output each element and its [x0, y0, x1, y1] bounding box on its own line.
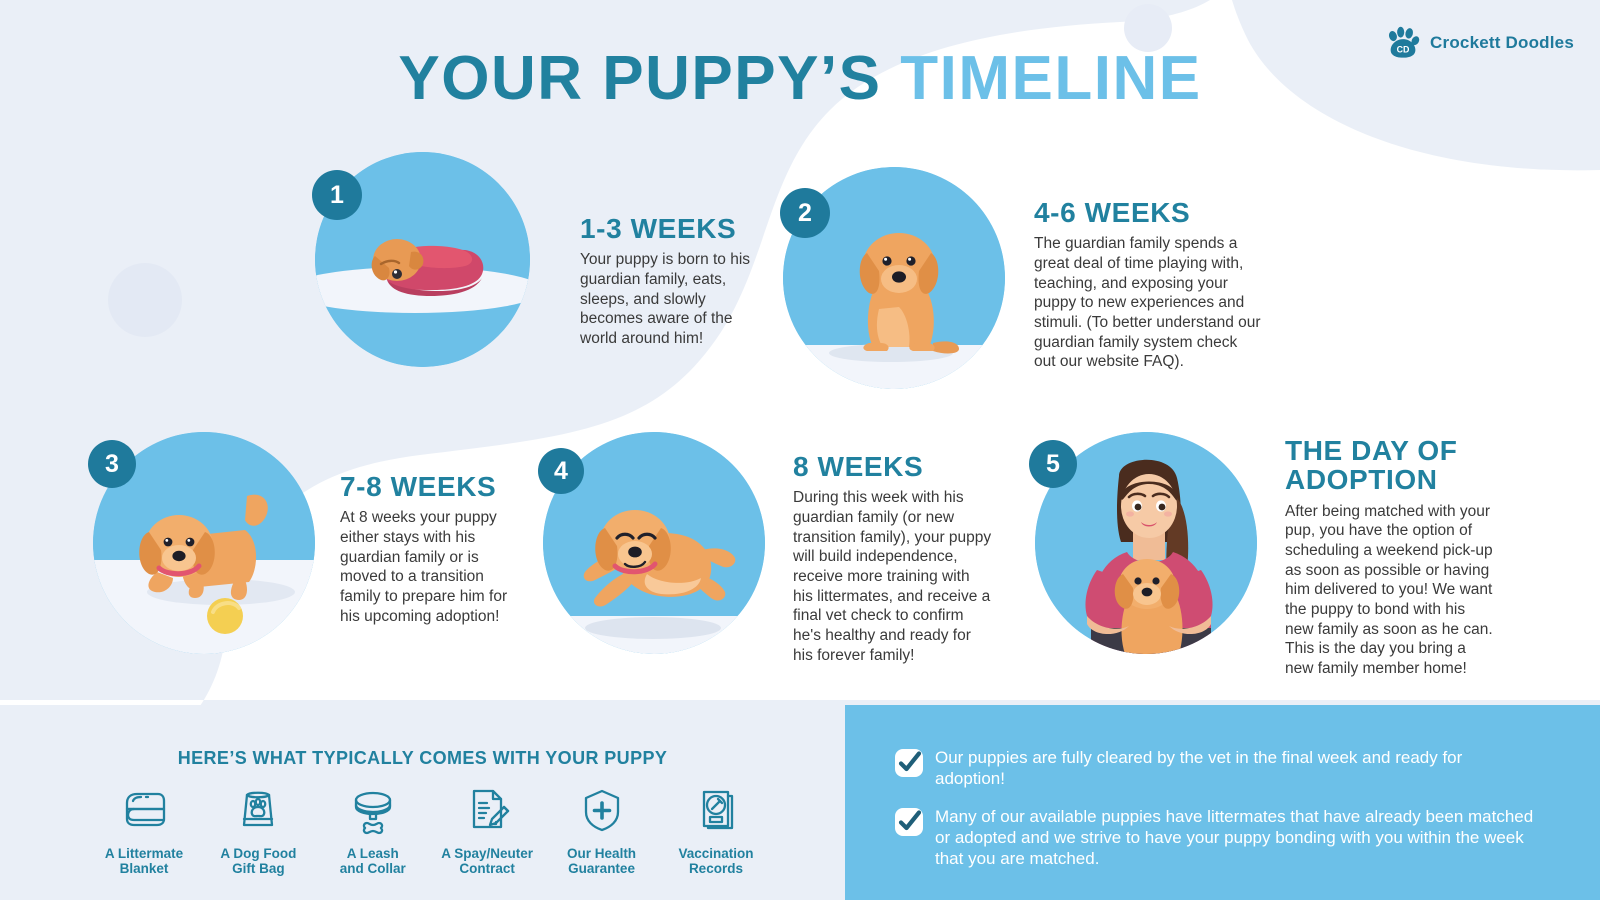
contract-document-icon [433, 778, 541, 840]
shield-plus-icon [548, 778, 656, 840]
kit-item-blanket-label: A Littermate Blanket [90, 846, 198, 876]
assurance-list: Our puppies are fully cleared by the vet… [895, 748, 1535, 888]
assurance-text-1: Our puppies are fully cleared by the vet… [935, 748, 1535, 789]
kit-item-dog-food[interactable]: A Dog Food Gift Bag [204, 778, 312, 876]
step-2-number: 2 [798, 199, 812, 228]
kit-label-line-1: Our Health [548, 846, 656, 861]
assurance-text-2: Many of our available puppies have litte… [935, 807, 1535, 869]
step-5-text: THE DAY OF ADOPTION After being matched … [1285, 436, 1495, 679]
assurance-item-2: Many of our available puppies have litte… [895, 807, 1535, 869]
step-4-heading: 8 WEEKS [793, 452, 993, 481]
page-title: YOUR PUPPY’S TIMELINE [0, 48, 1600, 110]
kit-item-dog-food-label: A Dog Food Gift Bag [204, 846, 312, 876]
collar-and-tag-icon [319, 778, 427, 840]
check-mark-icon [895, 808, 923, 836]
kit-label-line-1: A Littermate [90, 846, 198, 861]
step-3-number: 3 [105, 450, 119, 479]
page-title-part-2: TIMELINE [900, 44, 1201, 113]
folded-blanket-icon [90, 778, 198, 840]
check-mark-icon [895, 749, 923, 777]
kit-item-collar-label: A Leash and Collar [319, 846, 427, 876]
kit-item-collar[interactable]: A Leash and Collar [319, 778, 427, 876]
kit-items-row: A Littermate Blanket A Dog Food Gift Bag [90, 778, 770, 876]
kit-label-line-1: A Dog Food [204, 846, 312, 861]
kit-item-vaccination-label: Vaccination Records [662, 846, 770, 876]
step-2-number-badge: 2 [780, 188, 830, 238]
step-4-number-badge: 4 [538, 448, 584, 494]
kit-item-contract[interactable]: A Spay/Neuter Contract [433, 778, 541, 876]
step-3-heading: 7-8 WEEKS [340, 472, 520, 501]
kit-item-vaccination[interactable]: Vaccination Records [662, 778, 770, 876]
kit-item-health-label: Our Health Guarantee [548, 846, 656, 876]
step-4-number: 4 [554, 457, 568, 486]
kit-label-line-2: Gift Bag [204, 861, 312, 876]
kit-section-title: HERE’S WHAT TYPICALLY COMES WITH YOUR PU… [0, 748, 845, 769]
kit-item-contract-label: A Spay/Neuter Contract [433, 846, 541, 876]
step-2-heading: 4-6 WEEKS [1034, 198, 1262, 227]
kit-label-line-2: and Collar [319, 861, 427, 876]
step-1-heading: 1-3 WEEKS [580, 214, 755, 243]
kit-item-health[interactable]: Our Health Guarantee [548, 778, 656, 876]
step-1-number: 1 [330, 181, 344, 210]
step-4-text: 8 WEEKS During this week with his guardi… [793, 452, 993, 665]
step-1-number-badge: 1 [312, 170, 362, 220]
kit-label-line-2: Guarantee [548, 861, 656, 876]
page-title-part-1: YOUR PUPPY’S [398, 44, 881, 113]
step-2-text: 4-6 WEEKS The guardian family spends a g… [1034, 198, 1262, 372]
step-4-body: During this week with his guardian famil… [793, 488, 993, 665]
step-3-text: 7-8 WEEKS At 8 weeks your puppy either s… [340, 472, 520, 626]
assurance-item-1: Our puppies are fully cleared by the vet… [895, 748, 1535, 789]
step-5-number-badge: 5 [1029, 440, 1077, 488]
vaccination-card-icon [662, 778, 770, 840]
step-1-text: 1-3 WEEKS Your puppy is born to his guar… [580, 214, 755, 349]
infographic-canvas: CD Crockett Doodles YOUR PUPPY’S TIMELIN… [0, 0, 1600, 900]
kit-label-line-2: Contract [433, 861, 541, 876]
step-3-body: At 8 weeks your puppy either stays with … [340, 508, 520, 626]
kit-label-line-2: Blanket [90, 861, 198, 876]
step-5-number: 5 [1046, 450, 1060, 479]
step-5-body: After being matched with your pup, you h… [1285, 502, 1495, 679]
kit-label-line-1: Vaccination [662, 846, 770, 861]
kit-label-line-2: Records [662, 861, 770, 876]
kit-item-blanket[interactable]: A Littermate Blanket [90, 778, 198, 876]
step-5-heading: THE DAY OF ADOPTION [1285, 436, 1495, 495]
kit-label-line-1: A Spay/Neuter [433, 846, 541, 861]
step-3-number-badge: 3 [88, 440, 136, 488]
step-1-body: Your puppy is born to his guardian famil… [580, 250, 755, 348]
step-2-body: The guardian family spends a great deal … [1034, 234, 1262, 372]
kit-label-line-1: A Leash [319, 846, 427, 861]
dog-food-bag-icon [204, 778, 312, 840]
